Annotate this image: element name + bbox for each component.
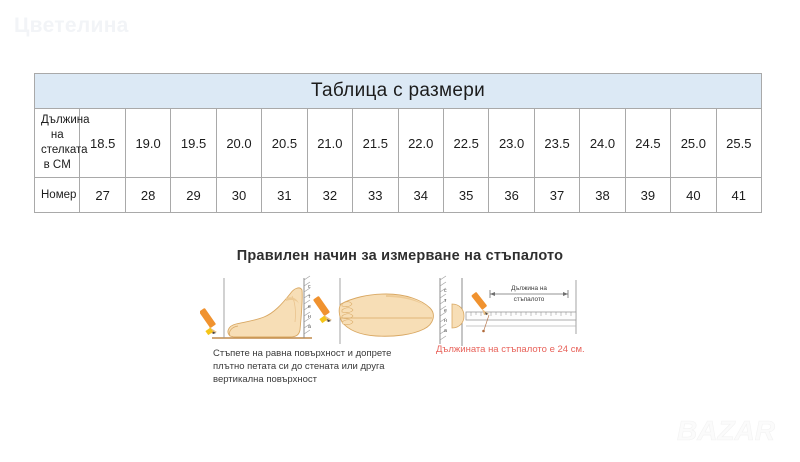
table-cell: 39 [625,178,670,213]
wall-label-letter: с [308,284,311,290]
bazar-logo-icon: BAZAR [666,406,786,454]
table-cell: 24.0 [580,109,625,178]
size-chart-container: Таблица с размери Дължина на стелката в … [34,73,762,213]
bazar-logo-text: BAZAR [677,415,776,446]
table-title-row: Таблица с размери [35,74,762,109]
table-cell: 30 [216,178,261,213]
table-cell: 25.5 [716,109,761,178]
table-cell: 19.0 [125,109,170,178]
table-cell: 33 [353,178,398,213]
table-cell: 32 [307,178,352,213]
table-cell: 36 [489,178,534,213]
measure-diagram: с т е н а [200,274,600,354]
diagram-panel-ruler: Дължина на стъпалото [452,278,576,346]
pencil-icon [200,308,217,335]
brand-watermark: Цветелина [14,14,129,38]
howto-measure-section: Правилен начин за измерване на стъпалото [0,248,800,354]
table-cell: 23.0 [489,109,534,178]
measure-result-note: Дължината на стъпалото е 24 см. [436,344,585,355]
wall-label-letter: т [308,294,311,300]
table-cell: 20.5 [262,109,307,178]
howto-caption: Стъпете на равна повърхност и допрете пл… [213,347,423,386]
table-cell: 37 [534,178,579,213]
table-cell: 29 [171,178,216,213]
table-cell: 35 [443,178,488,213]
wall-label-letter: н [308,314,311,320]
table-title: Таблица с размери [35,74,762,109]
measure-diagram-svg: с т е н а [200,274,600,354]
table-cell: 25.0 [671,109,716,178]
table-row: Номер 27 28 29 30 31 32 33 34 35 36 37 3… [35,178,762,213]
table-cell: 38 [580,178,625,213]
wall-label-letter: н [444,318,447,324]
table-cell: 22.0 [398,109,443,178]
table-cell: 22.5 [443,109,488,178]
table-cell: 21.5 [353,109,398,178]
diagram-panel-side-view: с т е н а [200,276,312,338]
table-row: Дължина на стелката в CM 18.5 19.0 19.5 … [35,109,762,178]
table-cell: 24.5 [625,109,670,178]
foot-side-shape [228,288,302,337]
row-label-insole-length: Дължина на стелката в CM [35,109,80,178]
pencil-icon [313,296,332,323]
howto-title: Правилен начин за измерване на стъпалото [0,248,800,264]
wall-label-letter: а [308,324,311,330]
wall-label-letter: с [444,288,447,294]
table-cell: 20.0 [216,109,261,178]
table-cell: 41 [716,178,761,213]
ruler-label-line2: стъпалото [514,296,545,303]
ruler-label-line1: Дължина на [511,285,547,292]
table-cell: 40 [671,178,716,213]
bazar-watermark: BAZAR [666,406,786,454]
row-label-size-number: Номер [35,178,80,213]
table-cell: 19.5 [171,109,216,178]
wall-label-letter: т [444,298,447,304]
wall-label-letter: е [308,304,311,310]
table-cell: 21.0 [307,109,352,178]
foot-top-shape [339,294,433,336]
table-cell: 28 [125,178,170,213]
wall-label-letter: а [444,328,447,334]
wall-label-letter: е [444,308,447,314]
pencil-icon [471,292,489,315]
table-cell: 27 [80,178,125,213]
table-cell: 31 [262,178,307,213]
size-chart-table: Таблица с размери Дължина на стелката в … [34,73,762,213]
table-cell: 34 [398,178,443,213]
table-cell: 23.5 [534,109,579,178]
diagram-panel-top-view: с т е н а [313,276,447,344]
